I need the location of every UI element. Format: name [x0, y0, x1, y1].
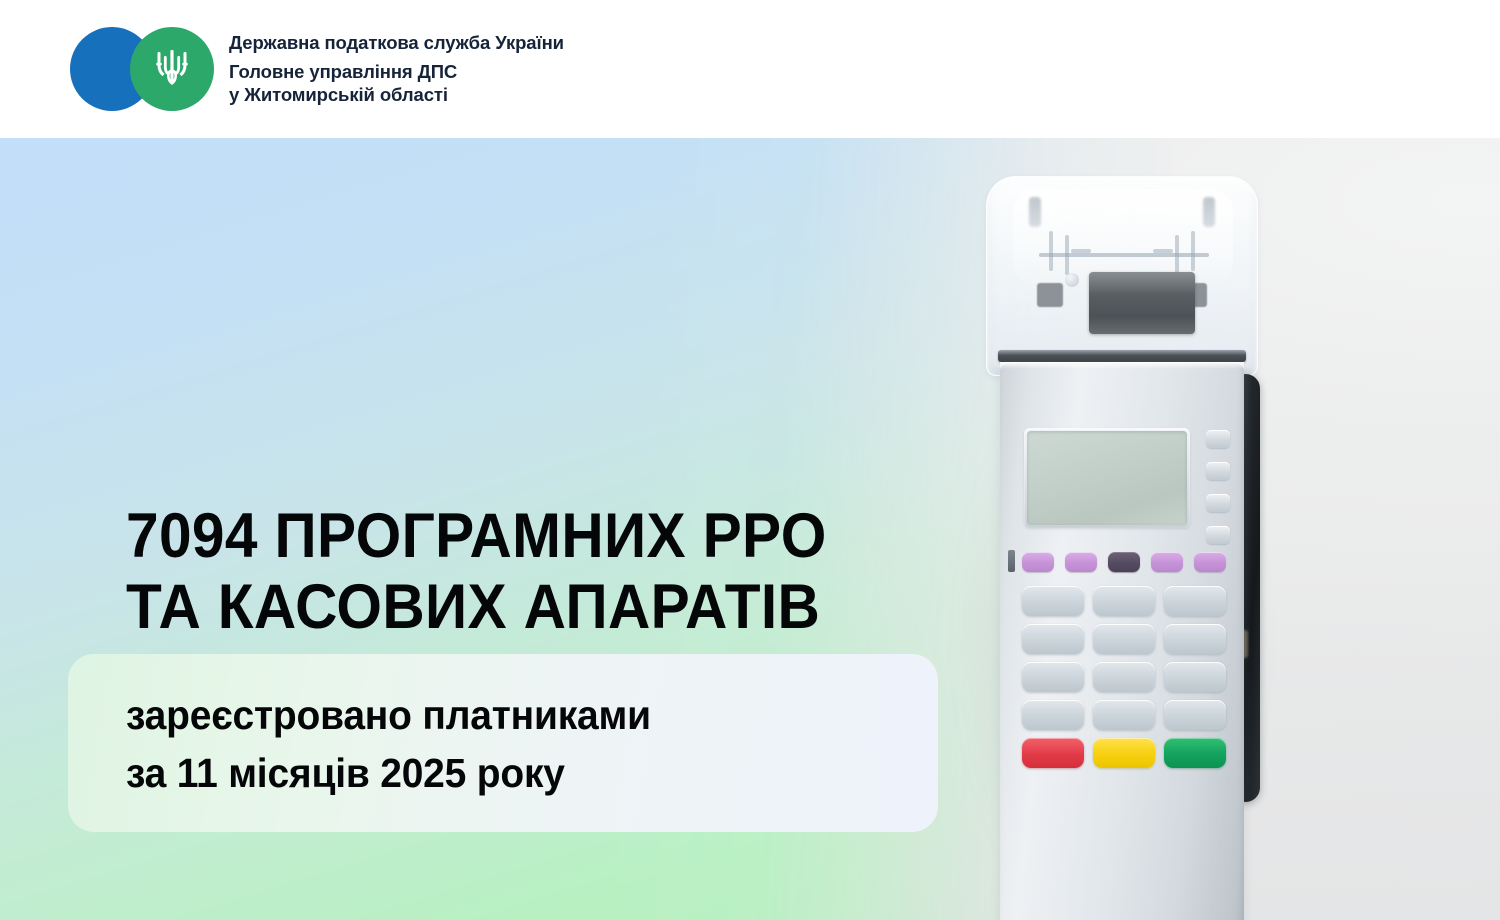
dps-logo [70, 27, 214, 111]
fn-key-4[interactable] [1151, 552, 1183, 572]
fn-key-5[interactable] [1194, 552, 1226, 572]
fn-key-1[interactable] [1022, 552, 1054, 572]
key-hash[interactable] [1164, 700, 1226, 730]
paper-guide-4 [1191, 231, 1195, 271]
terminal-body [1000, 362, 1244, 920]
soft-key-4[interactable] [1206, 526, 1230, 544]
lcd-bezel [1024, 428, 1190, 528]
soft-key-2[interactable] [1206, 462, 1230, 480]
key-3[interactable] [1164, 586, 1226, 616]
key-7[interactable] [1022, 662, 1084, 692]
key-5[interactable] [1093, 624, 1155, 654]
numeric-keypad[interactable] [1022, 586, 1226, 768]
org-line-3: у Житомирській області [229, 83, 564, 107]
org-line-1: Державна податкова служба України [229, 31, 564, 55]
pos-terminal [966, 176, 1276, 920]
paper-tear-bar [998, 350, 1246, 362]
key-8[interactable] [1093, 662, 1155, 692]
key-9[interactable] [1164, 662, 1226, 692]
key-4[interactable] [1022, 624, 1084, 654]
function-key-row[interactable] [1022, 552, 1226, 572]
subtitle-text: зареєстровано платниками за 11 місяців 2… [126, 686, 651, 802]
headline-line-2: ТА КАСОВИХ АПАРАТІВ [126, 572, 889, 643]
cover-highlight [1013, 189, 1233, 285]
headline: 7094 ПРОГРАМНИХ РРО ТА КАСОВИХ АПАРАТІВ [126, 501, 889, 642]
subtitle-card: зареєстровано платниками за 11 місяців 2… [68, 654, 938, 832]
poster-root: Державна податкова служба України Головн… [0, 0, 1500, 920]
enter-key[interactable] [1164, 738, 1226, 768]
lcd-display [1027, 431, 1187, 525]
cover-hinge-left [1029, 197, 1041, 227]
roller-highlight [1089, 272, 1195, 294]
ukraine-trident-icon [148, 45, 196, 93]
key-0[interactable] [1093, 700, 1155, 730]
printer-inner-left [1037, 283, 1063, 307]
poster-stage: 7094 ПРОГРАМНИХ РРО ТА КАСОВИХ АПАРАТІВ … [0, 138, 1500, 920]
printer-roller [1089, 272, 1195, 334]
printer-cover [986, 176, 1258, 376]
roller-peg-left [1065, 273, 1079, 287]
key-1[interactable] [1022, 586, 1084, 616]
cover-hinge-right [1203, 197, 1215, 227]
key-6[interactable] [1164, 624, 1226, 654]
page-header: Державна податкова служба України Головн… [0, 0, 1500, 138]
subtitle-line-1: зареєстровано платниками [126, 686, 651, 744]
body-top-edge [1000, 362, 1244, 369]
clear-key[interactable] [1093, 738, 1155, 768]
paper-guide-1 [1049, 231, 1053, 271]
soft-key-1[interactable] [1206, 430, 1230, 448]
subtitle-line-2: за 11 місяців 2025 року [126, 744, 651, 802]
cancel-key[interactable] [1022, 738, 1084, 768]
key-star[interactable] [1022, 700, 1084, 730]
headline-line-1: 7094 ПРОГРАМНИХ РРО [126, 501, 889, 572]
org-line-2: Головне управління ДПС [229, 60, 564, 84]
fn-key-3[interactable] [1108, 552, 1140, 572]
soft-key-3[interactable] [1206, 494, 1230, 512]
paper-slot [1039, 253, 1209, 257]
soft-key-column[interactable] [1206, 430, 1230, 544]
key-2[interactable] [1093, 586, 1155, 616]
fn-key-2[interactable] [1065, 552, 1097, 572]
status-led [1008, 550, 1015, 572]
organization-name: Державна податкова служба України Головн… [229, 31, 564, 108]
